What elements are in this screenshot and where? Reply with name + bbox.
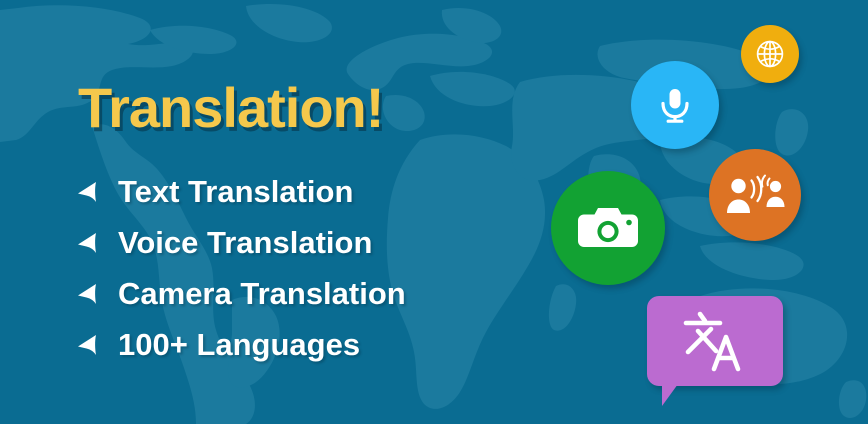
- feature-list: Text Translation Voice Translation Camer…: [74, 166, 406, 370]
- globe-badge: [741, 25, 799, 83]
- list-item: Camera Translation: [74, 268, 406, 319]
- list-item: Voice Translation: [74, 217, 406, 268]
- globe-icon: [752, 36, 788, 72]
- list-item: Text Translation: [74, 166, 406, 217]
- promo-banner: Translation! Text Translation Voice Tran…: [0, 0, 868, 424]
- voice-badge: [631, 61, 719, 149]
- play-left-triangle-icon: [74, 230, 100, 256]
- conversation-icon: [725, 171, 785, 219]
- translate-badge: [647, 296, 783, 386]
- play-left-triangle-icon: [74, 332, 100, 358]
- translate-icon: [680, 309, 750, 373]
- list-item: 100+ Languages: [74, 319, 406, 370]
- conversation-badge: [709, 149, 801, 241]
- camera-badge: [551, 171, 665, 285]
- list-item-label: 100+ Languages: [118, 328, 360, 362]
- play-left-triangle-icon: [74, 281, 100, 307]
- microphone-icon: [652, 82, 698, 128]
- camera-icon: [577, 202, 639, 254]
- list-item-label: Camera Translation: [118, 277, 406, 311]
- speech-bubble-tail: [662, 384, 678, 406]
- list-item-label: Voice Translation: [118, 226, 372, 260]
- list-item-label: Text Translation: [118, 175, 353, 209]
- page-title: Translation!: [78, 77, 383, 139]
- play-left-triangle-icon: [74, 179, 100, 205]
